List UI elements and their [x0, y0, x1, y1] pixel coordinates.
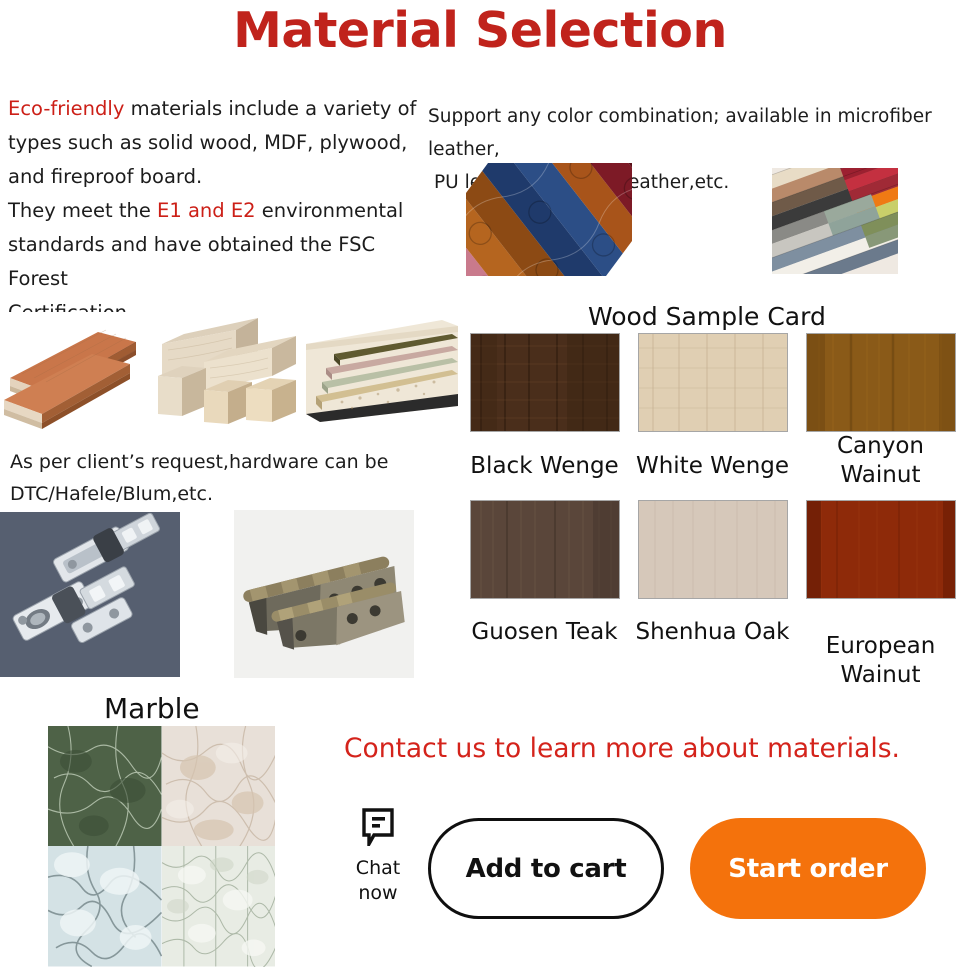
hardware-line1: As per client’s request,hardware can be [10, 451, 388, 473]
wood-label-guosen-teak: Guosen Teak [462, 618, 627, 647]
wood-label-european-wainut: European Wainut [798, 632, 960, 690]
marble-cell-green[interactable] [48, 726, 162, 846]
wood-swatch-black-wenge[interactable] [470, 333, 620, 432]
start-order-label: Start order [728, 854, 887, 884]
eco-friendly-highlight: Eco-friendly [8, 97, 124, 120]
add-to-cart-button[interactable]: Add to cart [428, 818, 664, 919]
intro-line3: and fireproof board. [8, 165, 202, 188]
chat-now-label-line2: now [348, 881, 408, 906]
wood-label-canyon-wainut: Canyon Wainut [798, 432, 960, 490]
colored-leather-rolls-image [772, 168, 898, 274]
solid-wood-lumber-image [148, 306, 296, 430]
marble-cell-blue-white[interactable] [48, 846, 162, 966]
intro-paragraph: Eco-friendly materials include a variety… [8, 92, 428, 330]
e1-e2-highlight: E1 and E2 [157, 199, 256, 222]
wood-sample-card-heading: Wood Sample Card [588, 302, 826, 331]
hardware-paragraph: As per client’s request,hardware can be … [10, 446, 440, 510]
marble-cell-white-green[interactable] [162, 846, 276, 966]
intro-line2: types such as solid wood, MDF, plywood, [8, 131, 407, 154]
intro-line5: standards and have obtained the FSC Fore… [8, 233, 375, 290]
cta-headline: Contact us to learn more about materials… [344, 733, 900, 764]
wood-swatch-shenhua-oak[interactable] [638, 500, 788, 599]
embossed-leather-swatches-image [466, 163, 632, 276]
chrome-cabinet-hinges-image [0, 512, 180, 677]
wood-label-shenhua-oak: Shenhua Oak [630, 618, 795, 647]
chat-bubble-icon [348, 808, 408, 851]
wood-swatch-guosen-teak[interactable] [470, 500, 620, 599]
add-to-cart-label: Add to cart [466, 854, 627, 884]
wood-swatch-white-wenge[interactable] [638, 333, 788, 432]
intro-line4-post: environmental [256, 199, 404, 222]
intro-line1-rest: materials include a variety of [124, 97, 416, 120]
hardware-line2: DTC/Hafele/Blum,etc. [10, 483, 213, 505]
page-title: Material Selection [0, 2, 960, 59]
material-selection-page: Material Selection Eco-friendly material… [0, 0, 960, 960]
leather-line1: Support any color combination; available… [428, 106, 932, 160]
chat-now-label-line1: Chat [348, 856, 408, 881]
marble-cell-beige[interactable] [162, 726, 276, 846]
start-order-button[interactable]: Start order [690, 818, 926, 919]
intro-line4-pre: They meet the [8, 199, 157, 222]
wood-swatch-european-wainut[interactable] [806, 500, 956, 599]
wood-label-white-wenge: White Wenge [630, 452, 795, 481]
marble-sample-grid [48, 726, 275, 958]
marble-heading: Marble [104, 692, 200, 725]
chat-now-button[interactable]: Chat now [348, 808, 408, 906]
wood-label-black-wenge: Black Wenge [462, 452, 627, 481]
particle-mdf-board-image [302, 310, 458, 432]
bronze-butt-hinges-image [234, 510, 414, 678]
plywood-stack-image [2, 312, 142, 430]
wood-swatch-canyon-wainut[interactable] [806, 333, 956, 432]
